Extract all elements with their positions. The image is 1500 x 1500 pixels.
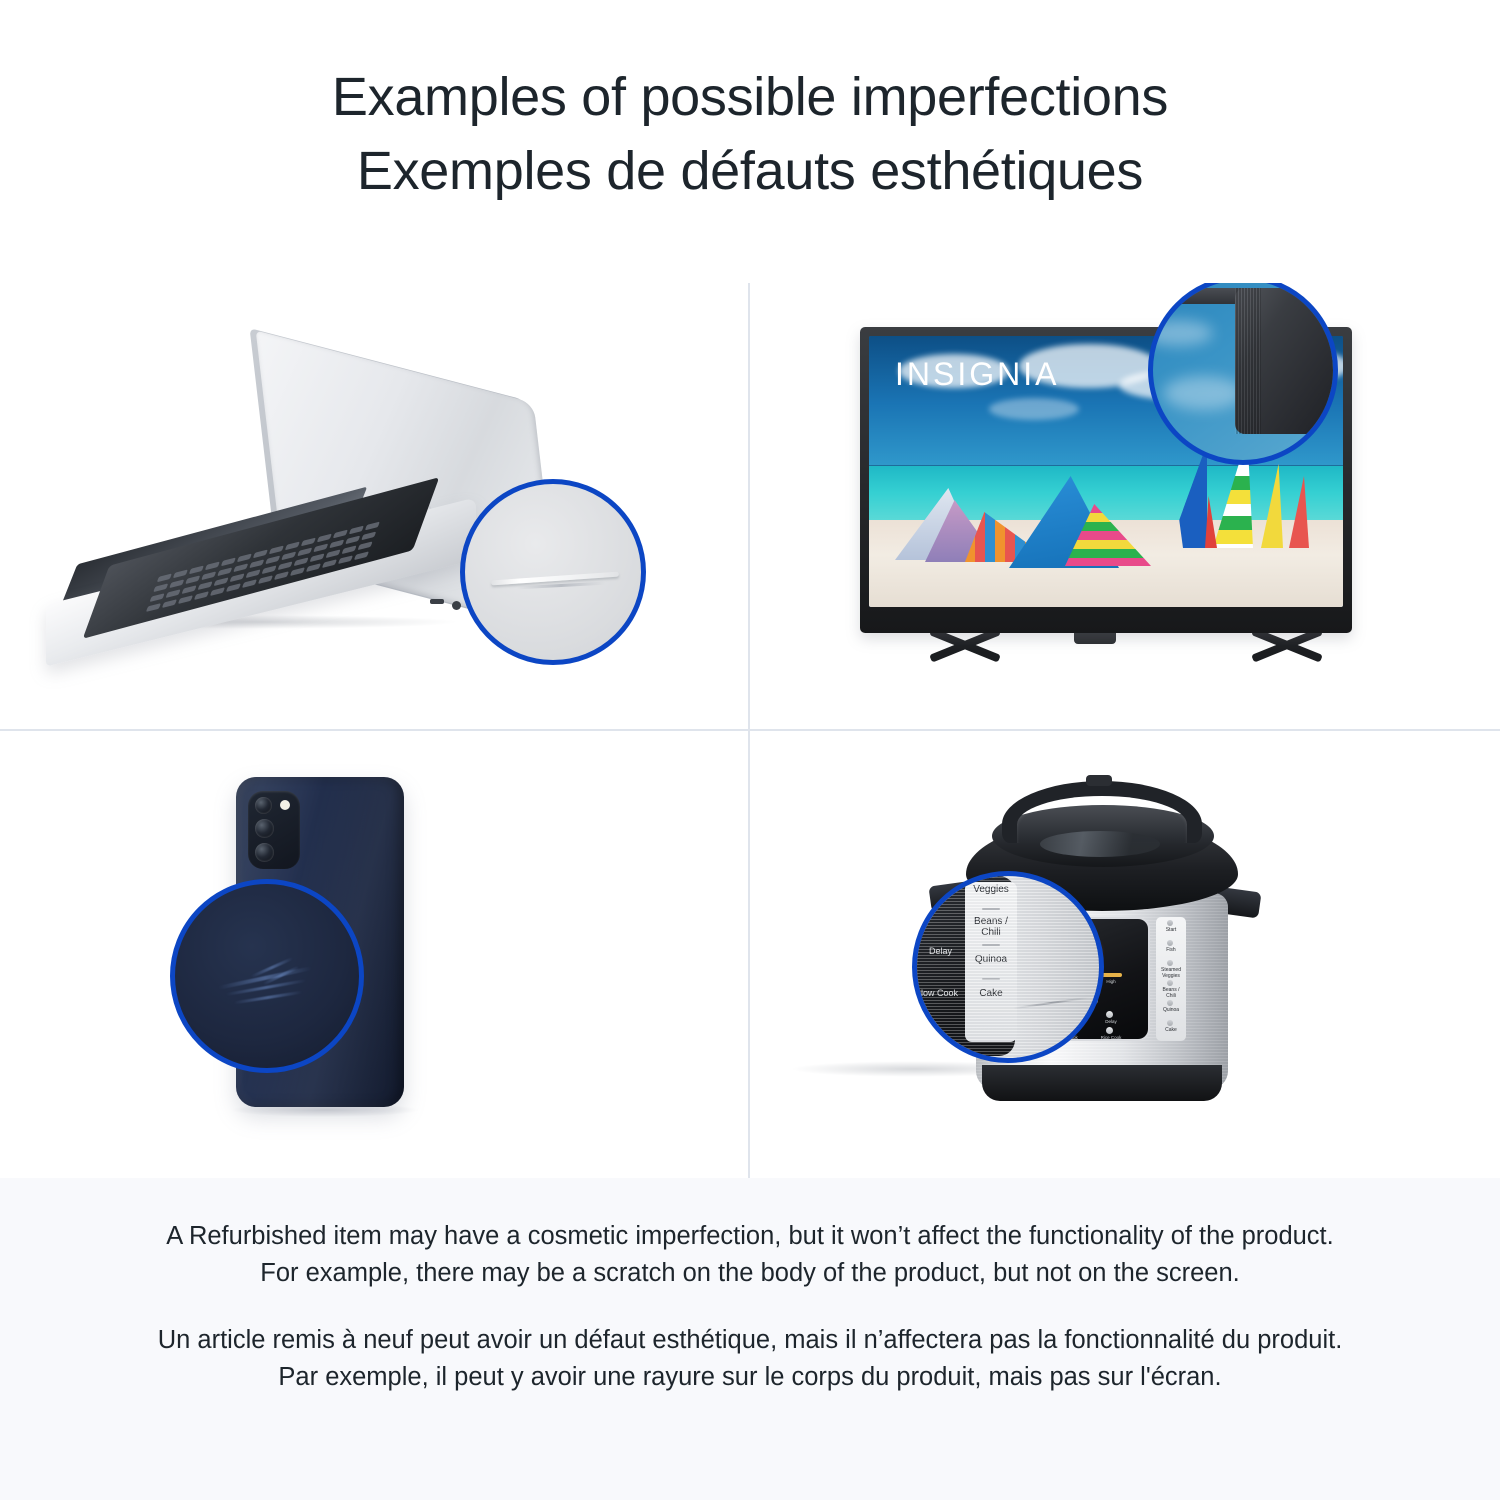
laptop-key — [274, 571, 289, 580]
laptop-key — [201, 571, 216, 580]
laptop-key — [198, 581, 213, 590]
title-line-english: Examples of possible imperfections — [0, 60, 1500, 134]
laptop-key — [342, 545, 357, 554]
laptop-key — [306, 563, 321, 572]
cooker-right-button-label: Steamed Veggies — [1157, 967, 1185, 979]
phone-camera-module — [248, 791, 300, 869]
laptop-key — [365, 522, 380, 531]
cooker-magnified-divider — [982, 908, 1000, 910]
laptop-key — [345, 536, 360, 545]
grid-cell-smartphone — [0, 731, 750, 1179]
camera-lens-icon — [255, 797, 272, 814]
magnifier-circle-tv-corner — [1148, 283, 1338, 465]
cooker-right-button[interactable] — [1167, 1000, 1173, 1006]
grid-cell-laptop — [0, 283, 750, 731]
laptop-key — [217, 567, 232, 576]
laptop-key — [285, 542, 300, 551]
laptop-key — [205, 561, 220, 570]
cooker-magnified-label-beans-chili: Beans / Chili — [965, 916, 1017, 938]
laptop-key — [297, 547, 312, 556]
grid-cell-pressure-cooker: CerealRiceSlow CookSoupStewPoultry INSIG… — [750, 731, 1500, 1179]
laptop-key — [146, 603, 161, 612]
laptop-key — [313, 543, 328, 552]
cooker-right-button-label: Start — [1157, 927, 1185, 933]
cooker-steam-valve-icon — [1086, 775, 1112, 786]
laptop-usb-port-icon — [430, 599, 444, 604]
laptop-key — [258, 575, 273, 584]
cooker-magnified-label-veggies: Veggies — [965, 884, 1017, 895]
cooker-magnified-label-slowcook: Slow Cook — [915, 988, 958, 998]
laptop-key — [153, 583, 168, 592]
laptop-key — [358, 541, 373, 550]
tv-magnified-cloud — [1148, 320, 1213, 346]
cooker-right-button-label: Cake — [1157, 1027, 1185, 1033]
cooker-mid-button-label: Delay — [1099, 1019, 1123, 1025]
disclaimer-paragraph-english: A Refurbished item may have a cosmetic i… — [150, 1218, 1350, 1292]
laptop-key — [173, 569, 188, 578]
magnifier-circle-cooker-scratch: Delay Slow Cook Veggies Beans / Chili Qu… — [912, 871, 1104, 1063]
cooker-right-button-label: Beans / Chili — [1157, 987, 1185, 999]
laptop-key — [361, 532, 376, 541]
tv-scene-cloud — [989, 398, 1079, 420]
cooker-magnified-button-column: Veggies Beans / Chili Quinoa Cake — [965, 882, 1017, 1042]
disclaimer-section: A Refurbished item may have a cosmetic i… — [0, 1178, 1500, 1500]
laptop-key — [242, 579, 257, 588]
laptop-key — [162, 599, 177, 608]
laptop-audio-jack-icon — [452, 601, 461, 610]
laptop-key — [294, 557, 309, 566]
cooker-mid-button-label: Rice Cook — [1099, 1035, 1123, 1041]
cooker-lid-handle — [1002, 781, 1202, 843]
refurbished-imperfections-infographic: Examples of possible imperfections Exemp… — [0, 0, 1500, 1500]
laptop-key — [354, 551, 369, 560]
laptop-key — [317, 534, 332, 543]
laptop-key — [194, 591, 209, 600]
laptop-scratch-mark-secondary — [517, 582, 605, 590]
cooker-base — [982, 1065, 1222, 1101]
laptop-key — [166, 589, 181, 598]
tv-ir-receiver-icon — [1074, 633, 1116, 644]
laptop-key — [322, 559, 337, 568]
laptop-key — [281, 551, 296, 560]
tv-brand-logo: INSIGNIA — [895, 356, 1059, 393]
laptop-illustration — [0, 283, 748, 729]
camera-flash-icon — [280, 800, 290, 810]
magnifier-circle-laptop-scratch — [460, 479, 646, 665]
laptop-key — [246, 569, 261, 578]
tv-leg-right — [1212, 635, 1322, 677]
laptop-key — [349, 526, 364, 535]
laptop-key — [237, 554, 252, 563]
disclaimer-paragraph-french: Un article remis à neuf peut avoir un dé… — [150, 1322, 1350, 1396]
laptop-key — [214, 577, 229, 586]
laptop-key — [226, 583, 241, 592]
laptop-key — [169, 579, 184, 588]
laptop-key — [230, 573, 245, 582]
laptop-key — [178, 595, 193, 604]
tv-magnified-bezel-corner — [1235, 288, 1338, 434]
cooker-magnified-label-delay: Delay — [929, 946, 952, 956]
cooker-right-button-label: Quinoa — [1157, 1007, 1185, 1013]
cooker-mid-button[interactable] — [1106, 1011, 1113, 1018]
laptop-key — [249, 559, 264, 568]
grid-cell-television: INSIGNIA — [750, 283, 1500, 731]
cooker-mid-button[interactable] — [1106, 1027, 1113, 1034]
laptop-key — [269, 546, 284, 555]
cooker-right-button-column[interactable]: StartFishSteamed VeggiesBeans / ChiliQui… — [1156, 917, 1186, 1041]
laptop-key — [189, 565, 204, 574]
cooker-scratch-mark — [1013, 996, 1089, 1009]
laptop-key — [333, 530, 348, 539]
cooker-right-button[interactable] — [1167, 980, 1173, 986]
laptop-key — [278, 561, 293, 570]
camera-lens-icon — [255, 819, 274, 838]
laptop-key — [233, 563, 248, 572]
laptop-key — [185, 575, 200, 584]
laptop-key — [253, 550, 268, 559]
laptop-key — [326, 549, 341, 558]
page-title: Examples of possible imperfections Exemp… — [0, 60, 1500, 208]
laptop-key — [265, 555, 280, 564]
cooker-right-button[interactable] — [1167, 940, 1173, 946]
laptop-key — [262, 565, 277, 574]
camera-lens-icon — [255, 843, 274, 862]
magnifier-circle-phone-scuff — [170, 879, 364, 1073]
tv-stand — [860, 633, 1352, 681]
laptop-key — [182, 585, 197, 594]
laptop-key — [338, 555, 353, 564]
cooker-magnified-label-quinoa: Quinoa — [965, 954, 1017, 965]
laptop-key — [150, 593, 165, 602]
cooker-right-button-label: Fish — [1157, 947, 1185, 953]
laptop-key — [329, 539, 344, 548]
cooker-magnified-label-cake: Cake — [965, 988, 1017, 999]
laptop-key — [301, 538, 316, 547]
tv-magnified-cloud — [1163, 376, 1243, 410]
laptop-key — [210, 587, 225, 596]
laptop-key — [221, 558, 236, 567]
cooker-right-button[interactable] — [1167, 1020, 1173, 1026]
laptop-key — [157, 573, 172, 582]
laptop-key — [290, 567, 305, 576]
cooker-right-button[interactable] — [1167, 960, 1173, 966]
cooker-right-button[interactable] — [1167, 920, 1173, 926]
cooker-magnified-panel-dark: Delay Slow Cook — [912, 876, 1015, 1056]
cooker-magnified-divider — [982, 944, 1000, 946]
cooker-pressure-label: High — [1100, 979, 1122, 985]
cooker-magnified-divider — [982, 978, 1000, 980]
title-line-french: Exemples de défauts esthétiques — [0, 134, 1500, 208]
laptop-key — [310, 553, 325, 562]
tv-leg-left — [890, 635, 1000, 677]
product-examples-grid: INSIGNIA — [0, 283, 1500, 1178]
